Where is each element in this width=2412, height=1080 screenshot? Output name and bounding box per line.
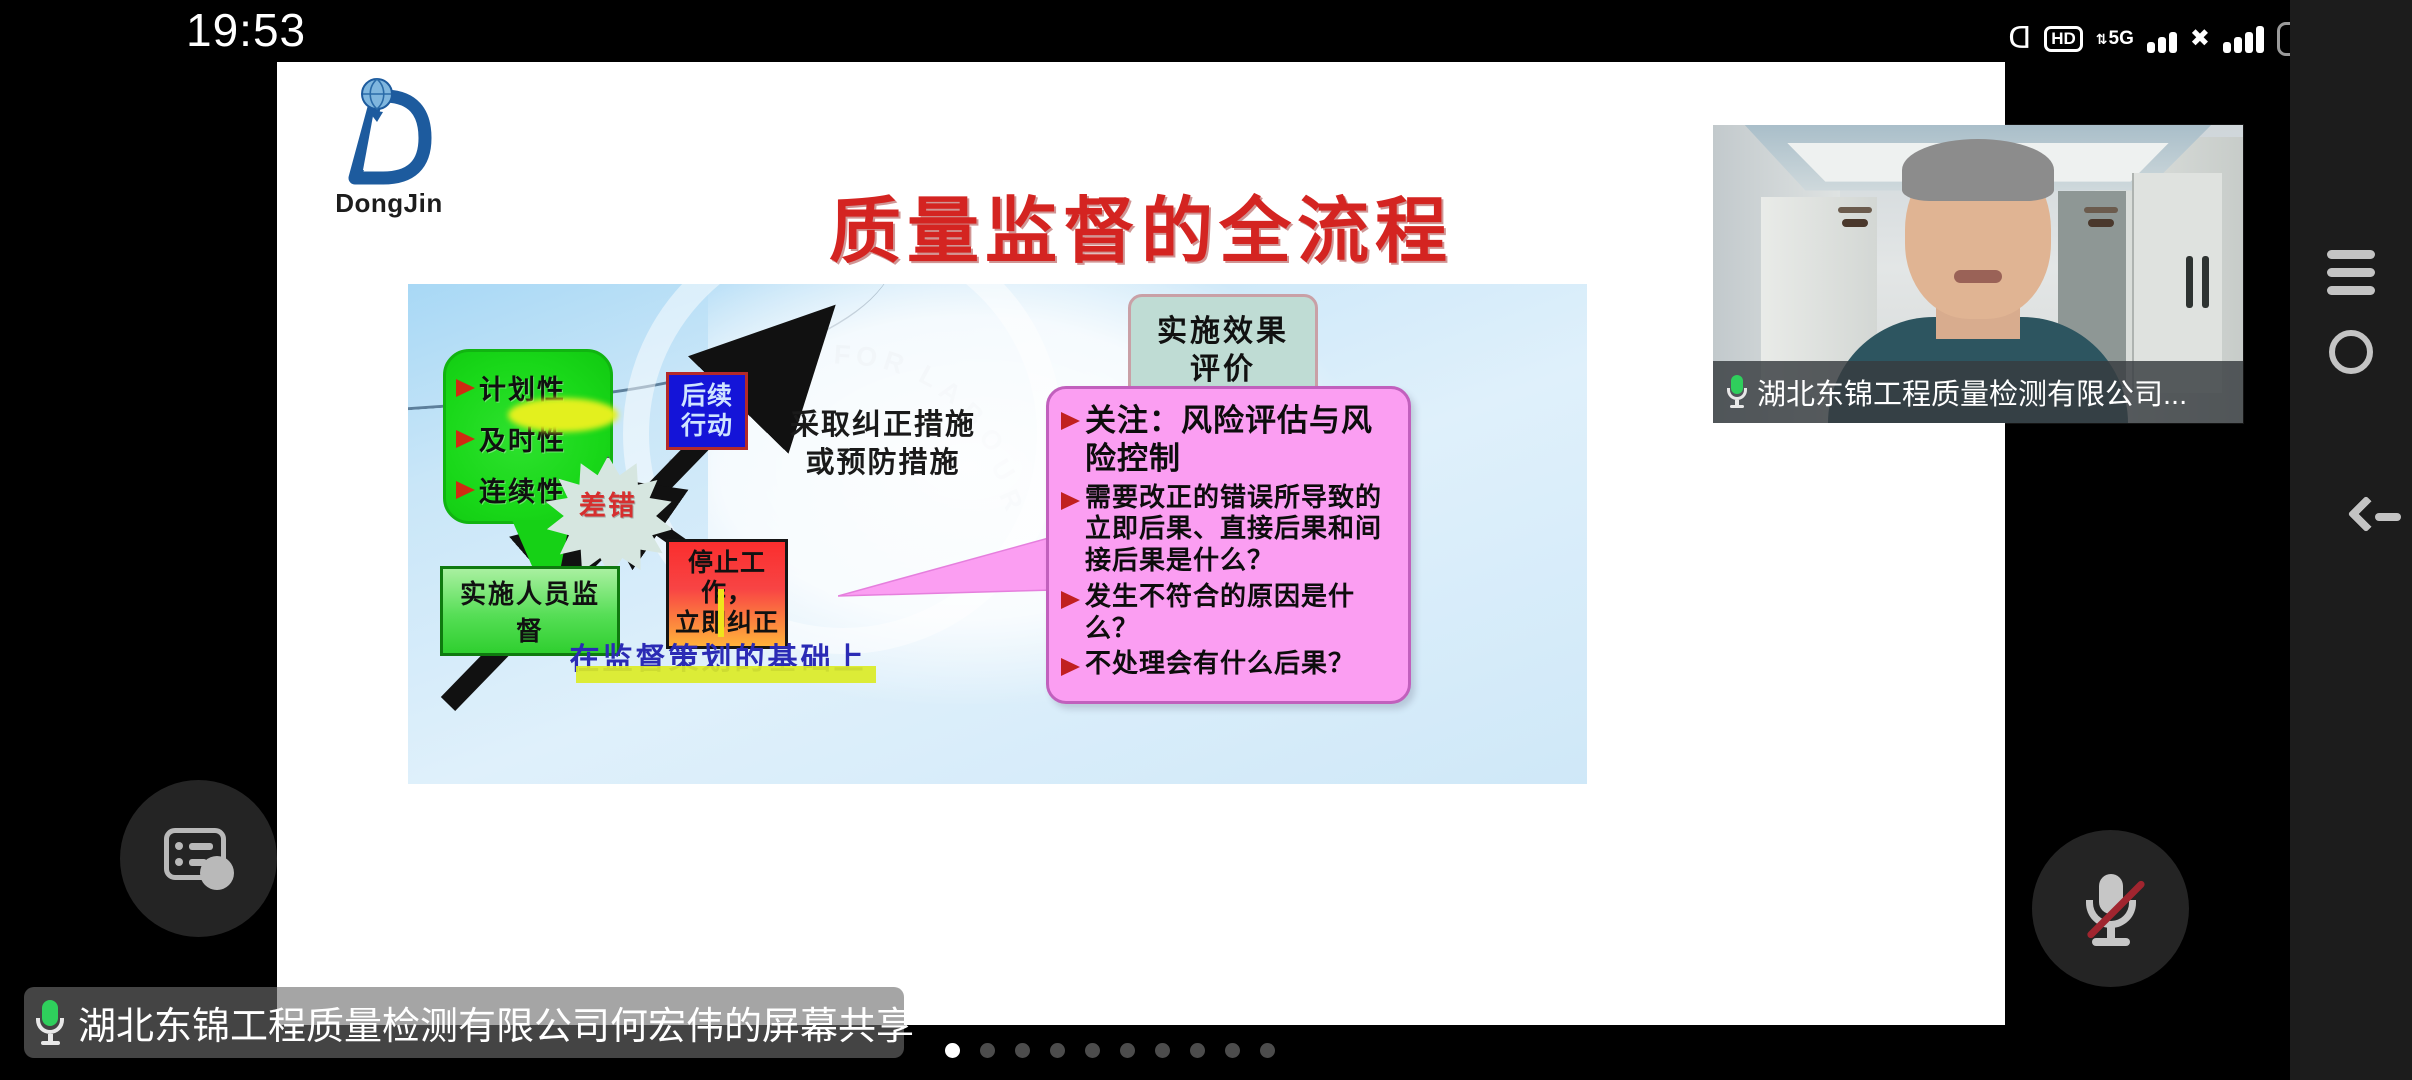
arrow-bullet-icon [1061,591,1080,609]
page-dot[interactable] [945,1043,960,1058]
arrow-bullet-icon [456,430,475,448]
arrow-bullet-icon [456,379,475,397]
pink-callout-tail [838,534,1058,644]
box-stop-line1: 停止工作， [675,548,779,608]
pink-item-1: 发生不符合的原因是什么？ [1061,582,1396,645]
page-dot[interactable] [1190,1043,1205,1058]
yellow-highlight-decor [508,398,618,432]
participant-video-tile[interactable]: 湖北东锦工程质量检测有限公司... [1713,125,2243,423]
screen-share-banner[interactable]: 湖北东锦工程质量检测有限公司何宏伟的屏幕共享 [24,987,904,1058]
box-followup-line2: 行动 [673,411,741,441]
box-eval-line1: 实施效果 [1141,313,1305,351]
red-box-marker-decor [718,589,724,637]
screen-share-label: 湖北东锦工程质量检测有限公司何宏伟的屏幕共享 [78,995,914,1050]
starburst-error: 差错 [543,456,673,576]
box-stop-work: 停止工作， 立即纠正 [666,539,788,649]
page-dot[interactable] [1260,1043,1275,1058]
page-dot[interactable] [1155,1043,1170,1058]
page-dot[interactable] [1050,1043,1065,1058]
pink-item-2: 不处理会有什么后果？ [1061,649,1396,681]
bluetooth-icon: ᗡ [2008,24,2031,54]
page-dot[interactable] [1085,1043,1100,1058]
process-diagram: I N S T I T U T E F O R L A B O U R [408,284,1587,784]
chat-button[interactable] [120,780,277,937]
page-dot[interactable] [980,1043,995,1058]
signal-5g-icon: ⇅5G [2096,29,2134,49]
bottom-highlight-decor [576,666,876,683]
phone-screen: 19:53 ᗡ HD ⇅5G ✖ 66 [0,0,2412,1080]
page-dot[interactable] [1015,1043,1030,1058]
caption-action-line1: 采取纠正措施 [758,406,1008,444]
microphone-muted-icon [2080,870,2142,948]
page-indicator[interactable] [945,1043,1275,1058]
microphone-icon [1727,375,1747,409]
home-circle-icon[interactable] [2329,330,2373,374]
recents-menu-icon[interactable] [2327,250,2375,295]
arrow-bullet-icon [456,481,475,499]
pink-item-heading: 关注：风险评估与风险控制 [1061,403,1396,479]
arrow-bullet-icon [1061,658,1080,676]
participant-name: 湖北东锦工程质量检测有限公司... [1757,371,2187,413]
system-navigation-bar [2290,0,2412,1080]
caption-corrective-action: 采取纠正措施 或预防措施 [758,406,1008,481]
caption-action-line2: 或预防措施 [758,444,1008,482]
arrow-bullet-icon [1061,412,1080,430]
arrow-bullet-icon [1061,492,1080,510]
pink-item-0: 需要改正的错误所导致的立即后果、直接后果和间接后果是什么？ [1061,483,1396,578]
page-dot[interactable] [1120,1043,1135,1058]
signal-no-service-icon: ✖ [2190,27,2210,52]
status-bar: 19:53 ᗡ HD ⇅5G ✖ 66 [0,0,2412,62]
box-risk-focus: 关注：风险评估与风险控制 需要改正的错误所导致的立即后果、直接后果和间接后果是什… [1046,386,1411,704]
box-eval-line2: 评价 [1141,351,1305,389]
microphone-icon [36,1000,64,1046]
mute-toggle-button[interactable] [2032,830,2189,987]
box-followup-line1: 后续 [673,381,741,411]
participant-name-bar: 湖北东锦工程质量检测有限公司... [1713,361,2243,423]
signal-bars-icon [2147,26,2177,53]
chat-list-icon [164,828,234,890]
box-followup-action: 后续 行动 [666,372,748,450]
starburst-label: 差错 [543,484,673,523]
status-clock: 19:53 [186,3,306,57]
hd-icon: HD [2044,26,2083,52]
page-dot[interactable] [1225,1043,1240,1058]
signal-bars-secondary-icon [2223,26,2264,53]
